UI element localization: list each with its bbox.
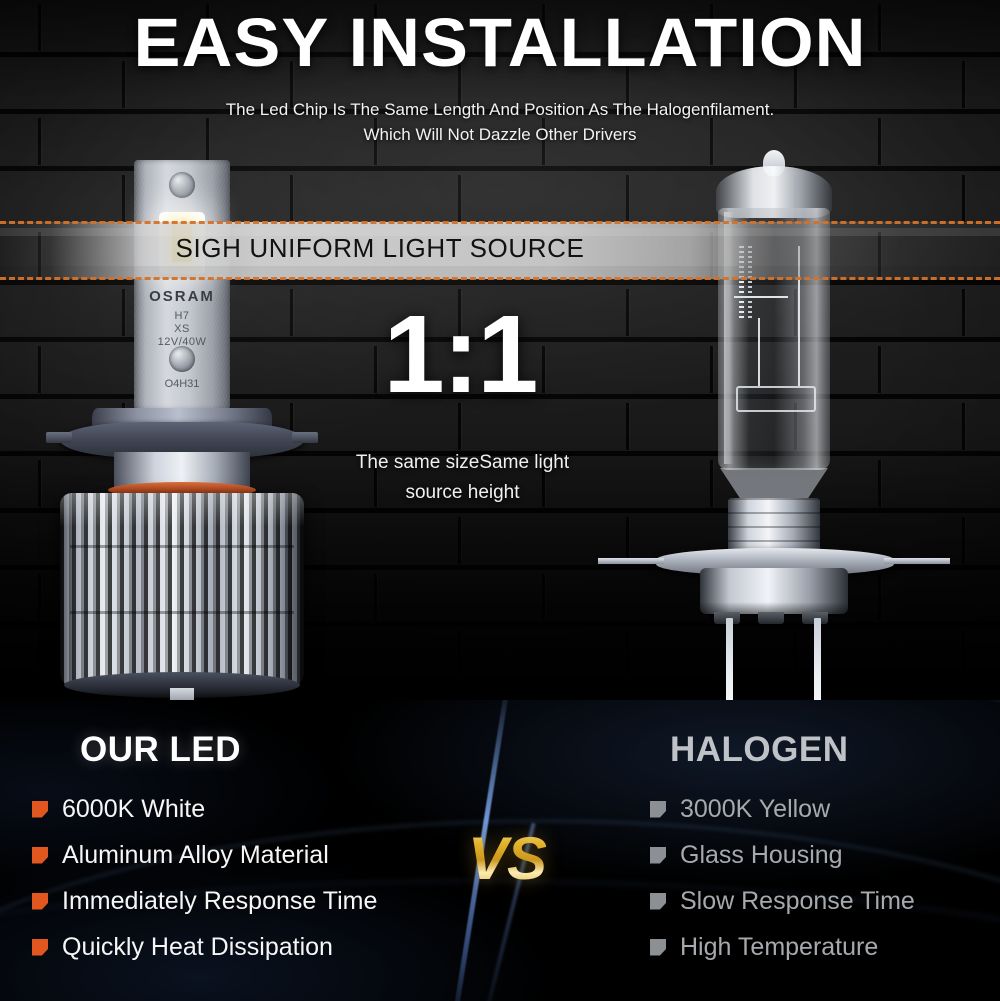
page-subtitle: The Led Chip Is The Same Length And Posi… — [0, 97, 1000, 147]
led-fin-band — [70, 545, 294, 548]
halogen-base-ring — [700, 568, 848, 614]
alignment-line-bottom — [0, 277, 1000, 280]
brick-joint — [38, 574, 41, 621]
brick-joint — [962, 289, 965, 336]
feature-label: Aluminum Alloy Material — [62, 841, 329, 870]
ratio-caption: The same sizeSame light source height — [290, 448, 635, 508]
feature-label: Glass Housing — [680, 841, 843, 870]
led-column-heading: OUR LED — [80, 732, 241, 767]
feature-label: Slow Response Time — [680, 887, 915, 916]
led-heatsink-fins — [60, 493, 304, 688]
brick-joint — [38, 346, 41, 393]
halogen-lug — [758, 612, 784, 624]
bullet-icon — [650, 801, 666, 818]
brick-joint — [458, 517, 461, 564]
halogen-terminal-pin-left — [726, 618, 733, 706]
feature-label: Immediately Response Time — [62, 887, 377, 916]
brick-joint — [458, 631, 461, 678]
halogen-filament-holder — [736, 386, 816, 412]
halogen-lead-wire-left — [758, 318, 760, 386]
brick-joint — [962, 517, 965, 564]
bullet-icon — [32, 801, 48, 818]
led-spec-label: H7 XS 12V/40W — [52, 310, 312, 349]
halogen-ferrule — [728, 498, 820, 552]
feature-item: 6000K White — [32, 786, 377, 832]
feature-item: Slow Response Time — [650, 878, 915, 924]
vs-badge: VS — [468, 824, 546, 893]
bullet-icon — [32, 893, 48, 910]
page-title: EASY INSTALLATION — [0, 8, 1000, 77]
ratio-caption-line-2: source height — [290, 478, 635, 508]
bullet-icon — [32, 939, 48, 956]
led-code-label: O4H31 — [52, 378, 312, 390]
subtitle-line-1: The Led Chip Is The Same Length And Posi… — [0, 97, 1000, 122]
feature-item: Quickly Heat Dissipation — [32, 924, 377, 970]
brick-joint — [458, 175, 461, 222]
halogen-flange-wing-left — [598, 558, 664, 564]
led-model: H7 — [174, 310, 189, 322]
led-fin-band — [70, 611, 294, 614]
brick-joint — [374, 574, 377, 621]
feature-item: Aluminum Alloy Material — [32, 832, 377, 878]
brick-joint — [962, 631, 965, 678]
brick-joint — [542, 574, 545, 621]
led-brand-label: OSRAM — [52, 288, 312, 305]
halogen-column-heading: HALOGEN — [670, 732, 849, 767]
feature-item: Immediately Response Time — [32, 878, 377, 924]
halogen-terminal-pin-right — [814, 618, 821, 706]
bullet-icon — [650, 893, 666, 910]
bullet-icon — [32, 847, 48, 864]
led-tab-right — [292, 432, 318, 443]
feature-item: High Temperature — [650, 924, 915, 970]
feature-label: 6000K White — [62, 795, 205, 824]
bullet-icon — [650, 847, 666, 864]
feature-label: Quickly Heat Dissipation — [62, 933, 333, 962]
led-feature-list: 6000K WhiteAluminum Alloy MaterialImmedi… — [32, 786, 377, 970]
brick-joint — [962, 175, 965, 222]
ratio-caption-line-1: The same sizeSame light — [290, 448, 635, 478]
promo-image: EASY INSTALLATION The Led Chip Is The Sa… — [0, 0, 1000, 1001]
led-tab-left — [46, 432, 72, 443]
alignment-line-top — [0, 221, 1000, 224]
led-screw-top-icon — [169, 172, 195, 198]
brick-joint — [962, 403, 965, 450]
halogen-support-wire — [760, 296, 768, 304]
feature-item: 3000K Yellow — [650, 786, 915, 832]
ratio-value: 1:1 — [300, 303, 620, 406]
feature-label: 3000K Yellow — [680, 795, 830, 824]
feature-label: High Temperature — [680, 933, 878, 962]
subtitle-line-2: Which Will Not Dazzle Other Drivers — [0, 122, 1000, 147]
halogen-feature-list: 3000K YellowGlass HousingSlow Response T… — [650, 786, 915, 970]
brick-joint — [38, 460, 41, 507]
feature-item: Glass Housing — [650, 832, 915, 878]
led-series: XS — [174, 323, 190, 335]
bullet-icon — [650, 939, 666, 956]
band-label: SIGH UNIFORM LIGHT SOURCE — [0, 233, 1000, 264]
led-screw-bottom-icon — [169, 346, 195, 372]
halogen-flange-wing-right — [884, 558, 950, 564]
